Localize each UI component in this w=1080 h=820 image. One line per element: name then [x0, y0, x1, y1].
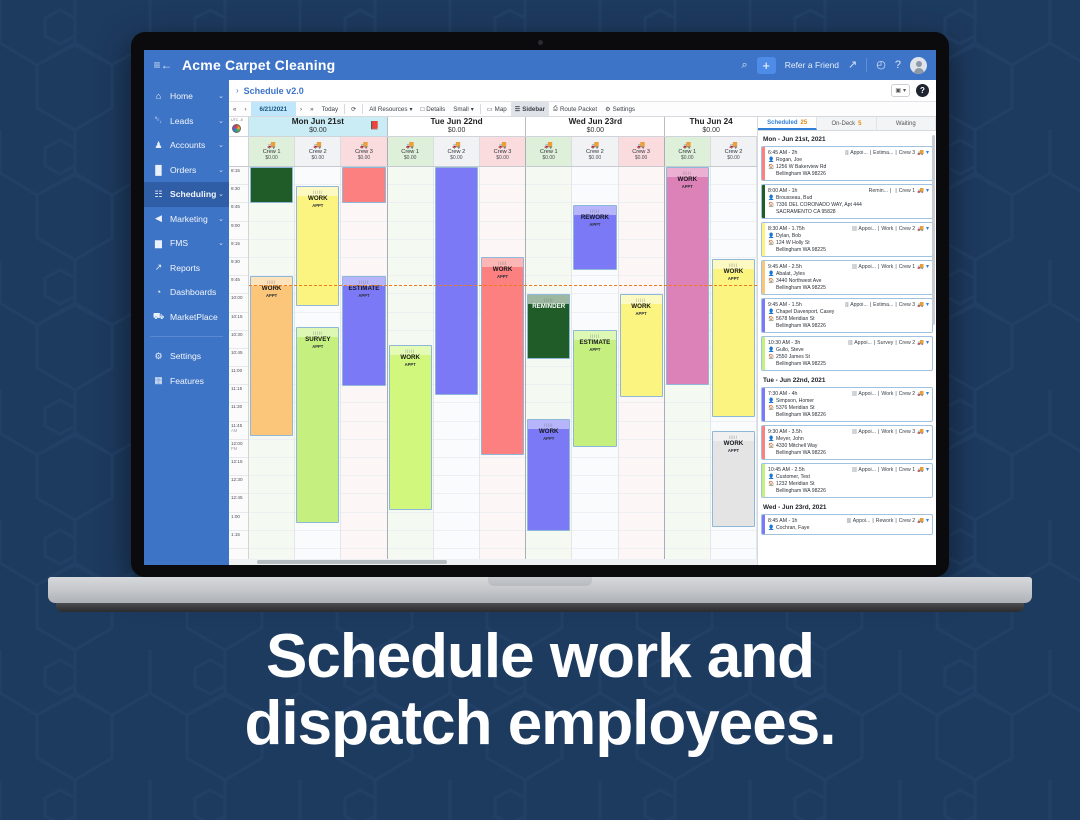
help-circle-icon[interactable]: ? [916, 84, 929, 97]
appointment-time: 6:45 AM - 2h [768, 150, 797, 156]
time-label: 10:30 [229, 331, 248, 349]
appointment-block[interactable]: |||||REWORKAPPT [573, 205, 616, 270]
laptop-screen: ≡← Acme Carpet Cleaning ⌕ + Refer a Frie… [144, 50, 936, 565]
appointment-sidebar: Scheduled25On-Deck5Waiting Mon - Jun 21s… [758, 117, 936, 565]
list-date-header: Mon - Jun 21st, 2021 [761, 133, 933, 146]
crew-header[interactable]: 🚚Crew 1$0.00 [526, 137, 572, 166]
truck-icon: 🚚 [729, 142, 738, 149]
crew-header[interactable]: 🚚Crew 2$0.00 [434, 137, 480, 166]
tab-on-deck[interactable]: On-Deck5 [817, 117, 876, 130]
address-line: 1256 W Bakerview Rd [776, 164, 826, 170]
appointment-title: WORK [390, 355, 431, 362]
time-label: 9:30 [229, 258, 248, 276]
appointment-crew: Crew 1 [899, 467, 915, 473]
crew-column[interactable]: |||||WORKAPPT [665, 167, 711, 559]
appointment-block[interactable]: |||||SURVEYAPPT [296, 327, 339, 523]
crew-header[interactable]: 🚚Crew 1$0.00 [665, 137, 711, 166]
avatar[interactable] [910, 57, 927, 74]
appointment-block[interactable] [342, 167, 385, 203]
route-packet-button[interactable]: ⎙ Route Packet [549, 102, 601, 116]
drag-handle-icon[interactable]: ||||| [848, 340, 852, 346]
city-line: Bellingham WA 98225 [776, 285, 826, 291]
time-axis: 8:158:308:459:009:159:309:4510:0010:1510… [229, 167, 249, 559]
horizontal-scrollbar[interactable] [229, 559, 757, 565]
external-link-icon[interactable]: ↗ [848, 60, 857, 71]
appointment-block[interactable]: |||||WORKAPPT [250, 276, 293, 436]
appointment-time: 10:30 AM - 3h [768, 340, 800, 346]
appointment-type: Appoi... [858, 264, 876, 270]
first-page-button[interactable]: « [229, 102, 240, 116]
list-item[interactable]: 9:45 AM - 1.5h||||Appoi...|Estima...|Cre… [761, 298, 933, 333]
person-icon: 👤 [768, 347, 773, 353]
sidebar-item-marketing[interactable]: ◀Marketing⌄ [144, 207, 229, 232]
time-label: 10:45 [229, 349, 248, 367]
sidebar-item-fms[interactable]: ▆FMS⌄ [144, 231, 229, 256]
sidebar-item-label: Settings [170, 351, 201, 361]
refresh-icon[interactable]: ⟳ [347, 102, 360, 116]
truck-icon: 🚚 [917, 150, 924, 156]
sidebar-tabs: Scheduled25On-Deck5Waiting [758, 117, 936, 131]
add-button[interactable]: + [757, 57, 776, 74]
separator: | [878, 264, 879, 270]
truck-icon: 🚚 [452, 142, 461, 149]
chevron-right-icon[interactable]: › [236, 86, 239, 95]
caption: Schedule work and dispatch employees. [0, 624, 1080, 758]
drag-handle-icon[interactable]: ||||| [852, 391, 856, 397]
pie-chart-icon: ◔ [152, 287, 165, 297]
city-line: Bellingham WA 98226 [776, 450, 826, 456]
scrollbar-thumb[interactable] [257, 560, 447, 564]
appointment-block[interactable]: |||||WORKAPPT [666, 167, 709, 385]
crew-header[interactable]: 🚚Crew 2$0.00 [295, 137, 341, 166]
appointment-block[interactable]: |||||WORKAPPT [712, 259, 755, 417]
search-icon[interactable]: ⌕ [742, 60, 748, 71]
sidebar-icon: ☰ [515, 106, 521, 113]
appointment-block[interactable]: |||||WORKAPPT [620, 294, 663, 397]
sidebar-item-accounts[interactable]: ♟Accounts⌄ [144, 133, 229, 158]
chevron-down-icon[interactable]: ▾ [926, 339, 929, 346]
appointment-list: Mon - Jun 21st, 20216:45 AM - 2h||||Appo… [758, 131, 936, 565]
tab-scheduled[interactable]: Scheduled25 [758, 117, 817, 130]
settings-button[interactable]: ⚙ Settings [601, 102, 639, 116]
appointment-subtitle: APPT [621, 311, 662, 316]
view-icon: ▣ [895, 87, 901, 94]
appointment-title: WORK [713, 441, 754, 448]
time-label: 10:00 [229, 294, 248, 312]
crew-amount: $0.00 [727, 155, 740, 161]
sidebar-item-label: Leads [170, 116, 193, 126]
map-button[interactable]: ▭ Map [483, 102, 511, 116]
city-line: Bellingham WA 98226 [776, 323, 826, 329]
tab-label: Scheduled [767, 120, 797, 126]
day-header[interactable]: Wed Jun 23rd$0.00 [526, 117, 665, 136]
appointment-title: REMINDER [528, 304, 569, 311]
crew-header[interactable]: 🚚Crew 2$0.00 [711, 137, 757, 166]
crew-header[interactable]: 🚚Crew 3$0.00 [480, 137, 526, 166]
crew-column[interactable]: |||||ESTIMATEAPPT [341, 167, 387, 559]
drag-handle-icon[interactable]: |||| [845, 150, 848, 156]
appointment-time: 8:00 AM - 1h [768, 188, 797, 194]
list-item[interactable]: 10:45 AM - 2.5h|||||Appoi...|Work|Crew 1… [761, 463, 933, 498]
appointment-title: WORK [251, 286, 292, 293]
appointment-title: ESTIMATE [343, 286, 384, 293]
time-text: 10:15 [231, 314, 243, 319]
chevron-down-icon: ⌄ [218, 117, 224, 125]
crew-header[interactable]: 🚚Crew 1$0.00 [249, 137, 295, 166]
appointment-time: 9:45 AM - 2.5h [768, 264, 802, 270]
home-icon: 🏠 [768, 481, 773, 487]
chevron-down-icon[interactable]: ▾ [926, 263, 929, 270]
day-header-row: UTC -8 Mon Jun 21st$0.00📕Tue Jun 22nd$0.… [229, 117, 757, 137]
home-icon: 🏠 [768, 164, 773, 170]
address-line: 7336 DEL CORONADO WAY, Apt 444 [776, 202, 862, 208]
time-label: 8:30 [229, 185, 248, 203]
time-label: 12:30 [229, 476, 248, 494]
chevron-down-icon[interactable]: ▾ [926, 390, 929, 397]
resources-dropdown[interactable]: All Resources ▾ [365, 102, 416, 116]
appointment-columns: |||||WORKAPPT|||||WORKAPPT|||||SURVEYAPP… [249, 167, 757, 559]
customer-name: Gullo, Steve [776, 347, 804, 353]
appointment-title: WORK [528, 429, 569, 436]
details-toggle[interactable]: □ Details [417, 102, 450, 116]
chevron-down-icon: ⌄ [218, 166, 224, 174]
appointment-kind: Estima... [873, 150, 893, 156]
drag-handle-icon[interactable]: ||||| [852, 264, 856, 270]
size-dropdown[interactable]: Small ▾ [449, 102, 478, 116]
appointment-subtitle: APPT [251, 293, 292, 298]
list-item[interactable]: 7:30 AM - 4h|||||Appoi...|Work|Crew 2🚚▾👤… [761, 387, 933, 422]
address-line: 124 W Holly St [776, 240, 810, 246]
tab-label: Waiting [896, 121, 916, 127]
crew-amount: $0.00 [635, 155, 648, 161]
appointment-block[interactable]: |||||ESTIMATEAPPT [342, 276, 385, 386]
crew-column[interactable] [434, 167, 480, 559]
customer-name: Brousseau, Bud [776, 195, 812, 201]
appointment-time: 9:45 AM - 1.5h [768, 302, 802, 308]
truck-icon: 🚚 [917, 226, 924, 232]
sidebar-item-home[interactable]: ⌂Home⌄ [144, 84, 229, 109]
divider [866, 58, 867, 72]
globe-icon[interactable] [232, 124, 241, 133]
sidebar-item-features[interactable]: ▦Features [144, 369, 229, 394]
list-item[interactable]: 10:30 AM - 3h|||||Appoi...|Survey|Crew 2… [761, 336, 933, 371]
sidebar-item-dashboards[interactable]: ◔Dashboards [144, 280, 229, 305]
separator: | [890, 188, 891, 194]
person-icon: 👤 [768, 474, 773, 480]
appointment-block[interactable]: |||||WORKAPPT [481, 257, 524, 455]
refer-a-friend-link[interactable]: Refer a Friend [785, 60, 839, 70]
appointment-block[interactable] [435, 167, 478, 395]
truck-icon: 🚚 [406, 142, 415, 149]
time-label: 9:15 [229, 240, 248, 258]
crew-amount: $0.00 [265, 155, 278, 161]
crew-column[interactable]: |||||WORKAPPT [619, 167, 665, 559]
chevron-down-icon: ▾ [903, 87, 906, 94]
appointment-subtitle: APPT [297, 203, 338, 208]
settings-label: Settings [613, 106, 635, 113]
person-icon: 👤 [768, 271, 773, 277]
sidebar-item-leads[interactable]: ␇Leads⌄ [144, 109, 229, 134]
timezone-indicator: UTC -8 [229, 117, 249, 136]
person-icon: 👤 [768, 157, 773, 163]
prev-day-button[interactable]: ‹ [240, 102, 250, 116]
sidebar-item-label: Accounts [170, 140, 205, 150]
chevron-down-icon[interactable]: ▾ [926, 517, 929, 524]
chevron-down-icon[interactable]: ▾ [926, 428, 929, 435]
appointment-crew: Crew 1 [899, 264, 915, 270]
sidebar-item-settings[interactable]: ⚙Settings [144, 344, 229, 369]
truck-icon: 🚚 [498, 142, 507, 149]
appointment-type: Appoi... [854, 340, 872, 346]
truck-icon: 🚚 [544, 142, 553, 149]
book-icon[interactable]: 📕 [370, 121, 380, 130]
appointment-block[interactable] [250, 167, 293, 203]
separator: | [895, 226, 896, 232]
time-text: 11:30 [231, 404, 242, 409]
today-button[interactable]: Today [318, 102, 343, 116]
appointment-title: WORK [667, 177, 708, 184]
home-icon: ⌂ [152, 91, 165, 101]
crew-column[interactable]: |||||REWORKAPPT|||||ESTIMATEAPPT [572, 167, 618, 559]
time-text: 1:15 [231, 532, 240, 537]
appointment-title: ESTIMATE [574, 340, 615, 347]
time-text: 12:45 [231, 495, 243, 500]
scrollbar-thumb[interactable] [932, 135, 935, 325]
crew-header[interactable]: 🚚Crew 1$0.00 [388, 137, 434, 166]
customer-name: Dylan, Bob [776, 233, 801, 239]
crew-column[interactable]: |||||WORKAPPT|||||WORKAPPT [711, 167, 757, 559]
appointment-time: 8:30 AM - 1.75h [768, 226, 805, 232]
list-item[interactable]: 9:30 AM - 3.5h|||||Appoi...|Work|Crew 3🚚… [761, 425, 933, 460]
time-text: 10:45 [231, 350, 243, 355]
truck-icon: 🚚 [683, 142, 692, 149]
separator: | [895, 391, 896, 397]
appointment-crew: Crew 3 [899, 429, 915, 435]
app-window: ≡← Acme Carpet Cleaning ⌕ + Refer a Frie… [144, 50, 936, 565]
address-line: 5678 Meridian St [776, 316, 815, 322]
appointment-block[interactable]: |||||REMINDER [527, 294, 570, 359]
hamburger-icon[interactable]: ≡← [144, 58, 182, 72]
chevron-down-icon[interactable]: ▾ [926, 187, 929, 194]
sidebar-item-marketplace[interactable]: ⛟MarketPlace [144, 305, 229, 330]
route-packet-label: Route Packet [560, 106, 597, 113]
crew-header[interactable]: 🚚Crew 2$0.00 [572, 137, 618, 166]
day-amount: $0.00 [702, 127, 720, 135]
current-time-line [249, 285, 757, 286]
spacer [229, 137, 249, 166]
appointment-block[interactable]: |||||WORKAPPT [527, 419, 570, 531]
truck-icon: 🚚 [917, 391, 924, 397]
main-sidebar: ⌂Home⌄␇Leads⌄♟Accounts⌄█Orders⌄☷Scheduli… [144, 80, 229, 565]
truck-icon: 🚚 [917, 518, 924, 524]
city-line: Bellingham WA 98226 [776, 488, 826, 494]
chevron-down-icon: ⌄ [218, 190, 224, 198]
crew-amount: $0.00 [589, 155, 602, 161]
time-label: 1:15 [229, 531, 248, 549]
appointment-block[interactable]: |||||WORKAPPT [389, 345, 432, 510]
sidebar-item-label: Marketing [170, 214, 208, 224]
chevron-down-icon[interactable]: ▾ [926, 225, 929, 232]
home-icon: 🏠 [768, 405, 773, 411]
topbar-actions: ⌕ + Refer a Friend ↗ ◴ ? [742, 57, 936, 74]
appointment-title: REWORK [574, 215, 615, 222]
time-label: 11:15 [229, 385, 248, 403]
checkbox-icon: □ [421, 106, 425, 113]
sidebar-item-scheduling[interactable]: ☷Scheduling⌄ [144, 182, 229, 207]
crew-column[interactable]: |||||WORKAPPT|||||SURVEYAPPT [295, 167, 341, 559]
crew-header[interactable]: 🚚Crew 3$0.00 [341, 137, 387, 166]
day-amount: $0.00 [448, 127, 466, 135]
schedule-calendar: UTC -8 Mon Jun 21st$0.00📕Tue Jun 22nd$0.… [229, 117, 758, 565]
view-selector[interactable]: ▣ ▾ [891, 84, 910, 97]
person-icon: 👤 [768, 233, 773, 239]
separator: | [895, 518, 896, 524]
appointment-block[interactable]: |||||ESTIMATEAPPT [573, 330, 616, 447]
separator: | [895, 429, 896, 435]
help-icon[interactable]: ? [895, 60, 901, 71]
sidebar-item-label: MarketPlace [170, 312, 218, 322]
day-amount: $0.00 [309, 127, 327, 135]
appointment-title: WORK [713, 269, 754, 276]
chevron-down-icon[interactable]: ▾ [926, 149, 929, 156]
gear-icon: ⚙ [605, 106, 611, 113]
separator: | [895, 302, 896, 308]
clock-icon[interactable]: ◴ [876, 60, 886, 71]
sidebar-item-label: FMS [170, 238, 188, 248]
separator: | [895, 467, 896, 473]
sidebar-item-reports[interactable]: ↗Reports [144, 256, 229, 281]
truck-icon: 🚚 [917, 302, 924, 308]
crew-amount: $0.00 [404, 155, 417, 161]
time-label: 11:30 [229, 403, 248, 421]
list-item[interactable]: 8:00 AM - 1hRemin...||Crew 1🚚▾👤Brousseau… [761, 184, 933, 219]
truck-icon: 🚚 [917, 264, 924, 270]
details-label: Details [426, 106, 445, 113]
next-day-button[interactable]: › [296, 102, 306, 116]
appointment-kind: Work [881, 391, 893, 397]
time-text: 8:30 [231, 186, 240, 191]
divider [150, 336, 223, 337]
printer-icon: ⎙ [553, 105, 558, 113]
page-title: Acme Carpet Cleaning [182, 57, 335, 73]
tab-count: 5 [858, 121, 861, 127]
chevron-down-icon: ⌄ [218, 239, 224, 247]
megaphone-icon: ◀ [152, 213, 165, 224]
drag-handle-icon[interactable]: ||||| [852, 226, 856, 232]
list-item[interactable]: 6:45 AM - 2h||||Appoi...|Estima...|Crew … [761, 146, 933, 181]
tab-waiting[interactable]: Waiting [877, 117, 936, 130]
appointment-time: 9:30 AM - 3.5h [768, 429, 802, 435]
appointment-type: Appoi... [858, 467, 876, 473]
appointment-crew: Crew 1 [899, 188, 915, 194]
sidebar-item-label: Dashboards [170, 287, 216, 297]
time-text: 11:45 [231, 423, 242, 428]
gear-icon: ⚙ [152, 351, 165, 362]
caption-line-2: dispatch employees. [0, 691, 1080, 758]
crew-column[interactable]: |||||REMINDER|||||WORKAPPT [526, 167, 572, 559]
sidebar-item-orders[interactable]: █Orders⌄ [144, 158, 229, 183]
time-text: 11:00 [231, 368, 242, 373]
chevron-down-icon: ⌄ [218, 92, 224, 100]
crew-column[interactable]: |||||WORKAPPT [388, 167, 434, 559]
time-meridiem: AM [231, 428, 248, 433]
chevron-down-icon: ▾ [409, 106, 412, 113]
breadcrumb-label: Schedule v2.0 [244, 86, 304, 96]
appointment-block[interactable]: |||||WORKAPPT [296, 186, 339, 306]
appointment-crew: Crew 3 [899, 150, 915, 156]
customer-name: Simpson, Homer [776, 398, 814, 404]
city-line: Bellingham WA 98226 [776, 412, 826, 418]
appointment-title: WORK [621, 304, 662, 311]
time-label: 8:15 [229, 167, 248, 185]
day-name: Mon Jun 21st [292, 118, 344, 127]
truck-icon: 🚚 [917, 340, 924, 346]
person-icon: 👤 [768, 309, 773, 315]
appointment-block[interactable]: |||||WORKAPPT [712, 431, 755, 527]
drag-handle-icon[interactable]: ||||| [847, 518, 851, 524]
list-item[interactable]: 8:30 AM - 1.75h|||||Appoi...|Work|Crew 2… [761, 222, 933, 257]
truck-icon: 🚚 [267, 142, 276, 149]
time-text: 12:30 [231, 477, 243, 482]
appointment-subtitle: APPT [482, 274, 523, 279]
time-meridiem: PM [231, 446, 248, 451]
appointment-kind: Rework [876, 518, 894, 524]
drag-handle-icon[interactable]: |||| [845, 302, 848, 308]
appointment-title: SURVEY [297, 337, 338, 344]
appointment-title: WORK [297, 196, 338, 203]
drag-handle-icon[interactable]: ||||| [852, 467, 856, 473]
crew-header[interactable]: 🚚Crew 3$0.00 [619, 137, 665, 166]
appointment-crew: Crew 2 [899, 340, 915, 346]
separator: | [895, 264, 896, 270]
day-header[interactable]: Tue Jun 22nd$0.00 [388, 117, 527, 136]
appointment-crew: Crew 2 [899, 518, 915, 524]
day-header[interactable]: Thu Jun 24$0.00 [665, 117, 757, 136]
chevron-down-icon[interactable]: ▾ [926, 301, 929, 308]
crew-column[interactable]: |||||WORKAPPT [249, 167, 295, 559]
person-icon: 👤 [768, 195, 773, 201]
sidebar-toggle-button[interactable]: ☰ Sidebar [511, 102, 549, 116]
chevron-down-icon[interactable]: ▾ [926, 466, 929, 473]
drag-handle-icon[interactable]: ||||| [852, 429, 856, 435]
appointment-subtitle: APPT [667, 184, 708, 189]
tab-label: On-Deck [831, 121, 855, 127]
day-name: Tue Jun 22nd [431, 118, 483, 127]
time-label: 10:15 [229, 313, 248, 331]
separator: | [878, 226, 879, 232]
appointment-crew: Crew 2 [899, 391, 915, 397]
appointment-kind: Work [881, 467, 893, 473]
day-header[interactable]: Mon Jun 21st$0.00📕 [249, 117, 388, 136]
chart-line-icon: ↗ [152, 262, 165, 273]
main-content: › Schedule v2.0 ▣ ▾ ? « ‹ 6 [229, 80, 936, 565]
appointment-type: Appoi... [858, 226, 876, 232]
address-line: 5376 Meridian St [776, 405, 815, 411]
person-icon: 👤 [768, 436, 773, 442]
divider [344, 104, 345, 114]
date-field[interactable]: 6/21/2021 [251, 102, 297, 116]
bars-icon: ▆ [152, 238, 165, 249]
truck-icon: 🚚 [591, 142, 600, 149]
list-item[interactable]: 9:45 AM - 2.5h|||||Appoi...|Work|Crew 1🚚… [761, 260, 933, 295]
list-item[interactable]: 8:45 AM - 1h|||||Appoi...|Rework|Crew 2🚚… [761, 514, 933, 535]
appointment-subtitle: APPT [343, 293, 384, 298]
crew-amount: $0.00 [312, 155, 325, 161]
time-text: 8:45 [231, 204, 240, 209]
crew-column[interactable]: |||||WORKAPPT [480, 167, 526, 559]
last-page-button[interactable]: » [306, 102, 317, 116]
separator: | [874, 340, 875, 346]
